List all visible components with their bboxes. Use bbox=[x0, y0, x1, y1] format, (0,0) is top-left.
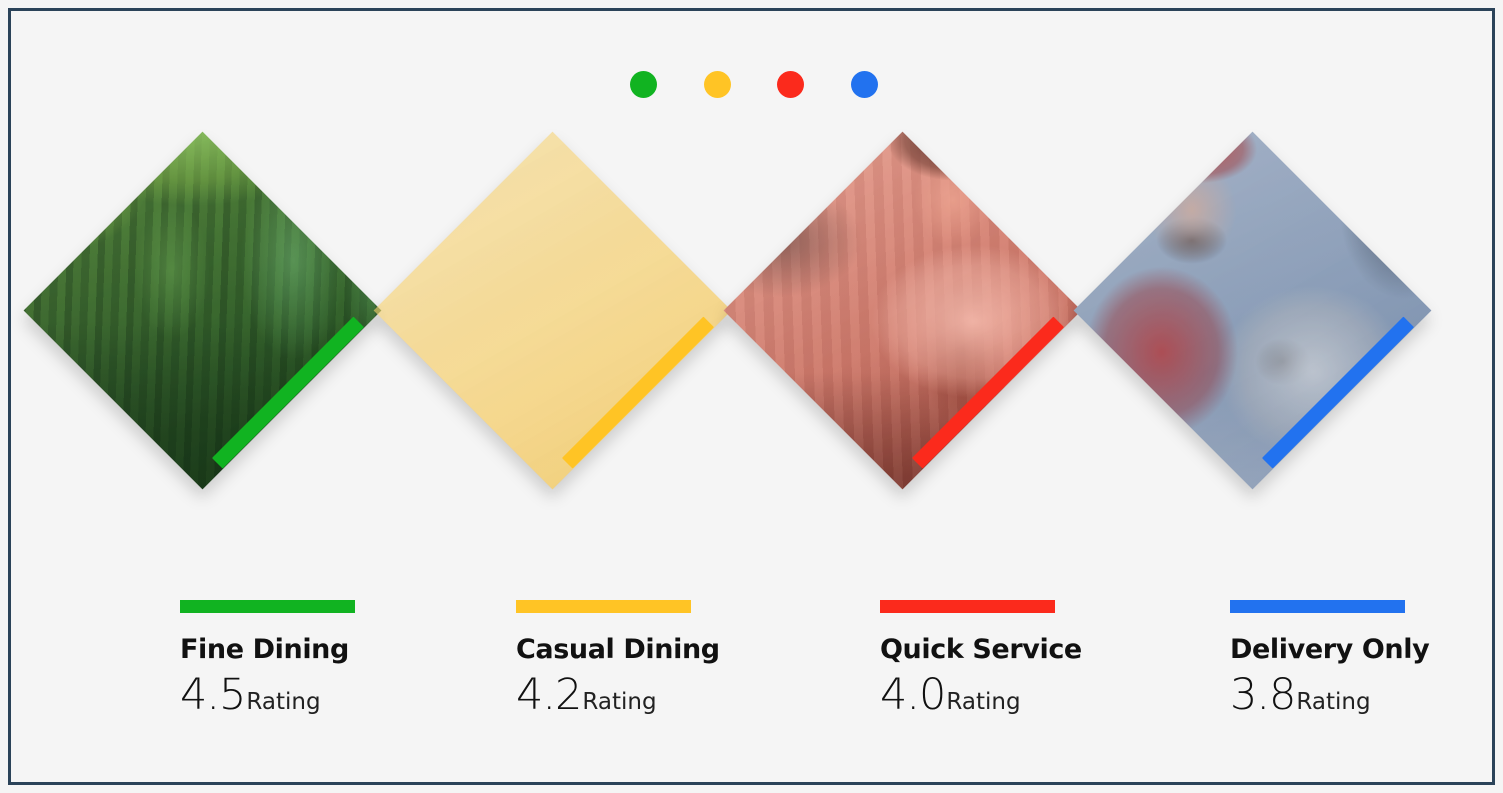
label-bar-delivery-only bbox=[1230, 600, 1405, 613]
label-title-casual-dining: Casual Dining bbox=[516, 636, 846, 663]
label-bar-casual-dining bbox=[516, 600, 691, 613]
label-rating-delivery-only: 3.8 Rating bbox=[1230, 674, 1503, 717]
rating-value-delivery-only: 3.8 bbox=[1230, 674, 1295, 717]
infographic-canvas: Fine Dining 4.5 Rating Casual Dining 4.2… bbox=[0, 0, 1503, 793]
diamond-frame-fine-dining bbox=[24, 132, 382, 490]
rating-unit-quick-service: Rating bbox=[946, 691, 1020, 714]
diamond-cell-quick-service bbox=[724, 132, 1080, 490]
rating-unit-fine-dining: Rating bbox=[246, 691, 320, 714]
diamond-frame-casual-dining bbox=[374, 132, 732, 490]
diamond-cell-fine-dining bbox=[24, 132, 380, 490]
rating-value-quick-service: 4.0 bbox=[880, 674, 945, 717]
rating-unit-delivery-only: Rating bbox=[1296, 691, 1370, 714]
diamond-cell-casual-dining bbox=[374, 132, 730, 490]
diamond-frame-quick-service bbox=[724, 132, 1082, 490]
label-bar-quick-service bbox=[880, 600, 1055, 613]
diamond-cell-delivery-only bbox=[1074, 132, 1430, 490]
label-block-delivery-only: Delivery Only 3.8 Rating bbox=[1230, 600, 1503, 717]
label-title-quick-service: Quick Service bbox=[880, 636, 1210, 663]
label-title-delivery-only: Delivery Only bbox=[1230, 636, 1503, 663]
label-block-fine-dining: Fine Dining 4.5 Rating bbox=[180, 600, 510, 717]
label-title-fine-dining: Fine Dining bbox=[180, 636, 510, 663]
label-rating-quick-service: 4.0 Rating bbox=[880, 674, 1210, 717]
label-block-quick-service: Quick Service 4.0 Rating bbox=[880, 600, 1210, 717]
rating-value-fine-dining: 4.5 bbox=[180, 674, 245, 717]
diamond-frame-delivery-only bbox=[1074, 132, 1432, 490]
rating-value-casual-dining: 4.2 bbox=[516, 674, 581, 717]
rating-unit-casual-dining: Rating bbox=[582, 691, 656, 714]
label-block-casual-dining: Casual Dining 4.2 Rating bbox=[516, 600, 846, 717]
label-rating-casual-dining: 4.2 Rating bbox=[516, 674, 846, 717]
label-rating-fine-dining: 4.5 Rating bbox=[180, 674, 510, 717]
label-bar-fine-dining bbox=[180, 600, 355, 613]
